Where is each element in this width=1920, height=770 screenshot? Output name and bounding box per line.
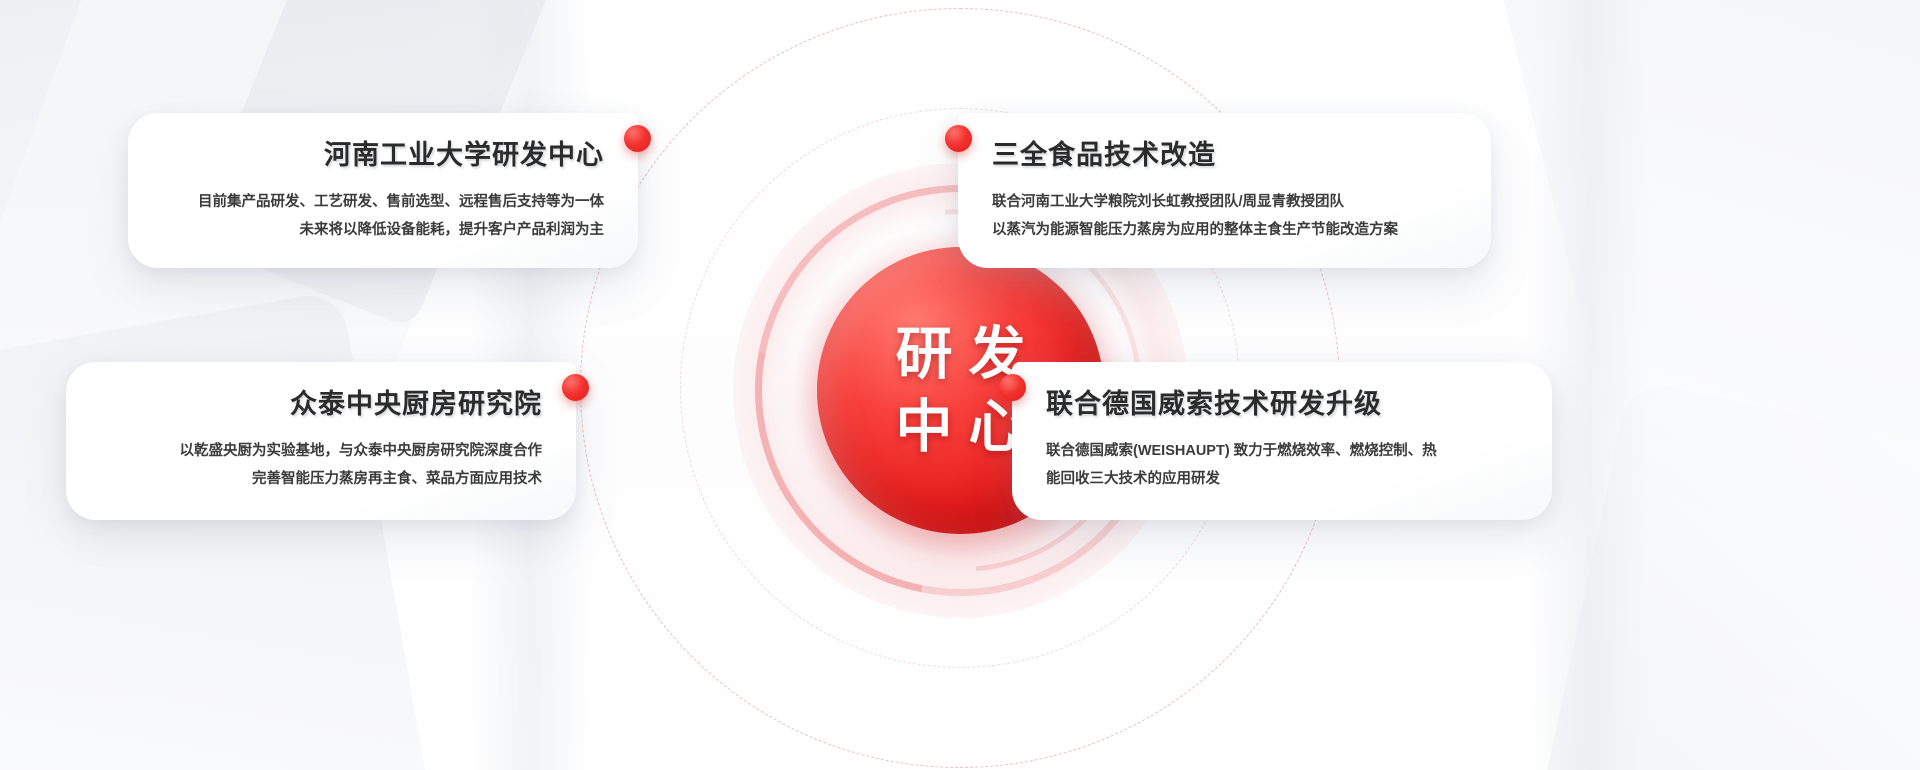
card-line: 联合河南工业大学粮院刘长虹教授团队/周显青教授团队 xyxy=(992,189,1457,217)
card-dot-icon xyxy=(945,125,972,152)
card-title: 众泰中央厨房研究院 xyxy=(100,388,542,422)
card-zhongtai-central-kitchen-institute[interactable]: 众泰中央厨房研究院 以乾盛央厨为实验基地，与众泰中央厨房研究院深度合作 完善智能… xyxy=(66,362,576,520)
rd-center-infographic: 研发 中心 河南工业大学研发中心 目前集产品研发、工艺研发、售前选型、远程售后支… xyxy=(0,0,1920,770)
card-body: 以乾盛央厨为实验基地，与众泰中央厨房研究院深度合作 完善智能压力蒸房再主食、菜品… xyxy=(100,438,542,494)
card-weishaupt-joint-rd-upgrade[interactable]: 联合德国威索技术研发升级 联合德国威索(WEISHAUPT) 致力于燃烧效率、燃… xyxy=(1012,362,1552,520)
card-body: 联合德国威索(WEISHAUPT) 致力于燃烧效率、燃烧控制、热 能回收三大技术… xyxy=(1046,438,1518,494)
card-line: 完善智能压力蒸房再主食、菜品方面应用技术 xyxy=(100,466,542,494)
card-body: 目前集产品研发、工艺研发、售前选型、远程售后支持等为一体 未来将以降低设备能耗，… xyxy=(162,189,604,245)
card-title: 河南工业大学研发中心 xyxy=(162,139,604,173)
card-line: 目前集产品研发、工艺研发、售前选型、远程售后支持等为一体 xyxy=(162,189,604,217)
card-henan-university-rd-center[interactable]: 河南工业大学研发中心 目前集产品研发、工艺研发、售前选型、远程售后支持等为一体 … xyxy=(128,113,638,268)
card-line: 未来将以降低设备能耗，提升客户产品利润为主 xyxy=(162,217,604,245)
card-body: 联合河南工业大学粮院刘长虹教授团队/周显青教授团队 以蒸汽为能源智能压力蒸房为应… xyxy=(992,189,1457,245)
card-title: 三全食品技术改造 xyxy=(992,139,1457,173)
card-dot-icon xyxy=(999,374,1026,401)
card-line: 联合德国威索(WEISHAUPT) 致力于燃烧效率、燃烧控制、热 xyxy=(1046,438,1518,466)
card-line: 以蒸汽为能源智能压力蒸房为应用的整体主食生产节能改造方案 xyxy=(992,217,1457,245)
card-dot-icon xyxy=(624,125,651,152)
card-dot-icon xyxy=(562,374,589,401)
card-line: 以乾盛央厨为实验基地，与众泰中央厨房研究院深度合作 xyxy=(100,438,542,466)
card-title: 联合德国威索技术研发升级 xyxy=(1046,388,1518,422)
card-line: 能回收三大技术的应用研发 xyxy=(1046,466,1518,494)
card-sanquan-food-tech-upgrade[interactable]: 三全食品技术改造 联合河南工业大学粮院刘长虹教授团队/周显青教授团队 以蒸汽为能… xyxy=(958,113,1491,268)
